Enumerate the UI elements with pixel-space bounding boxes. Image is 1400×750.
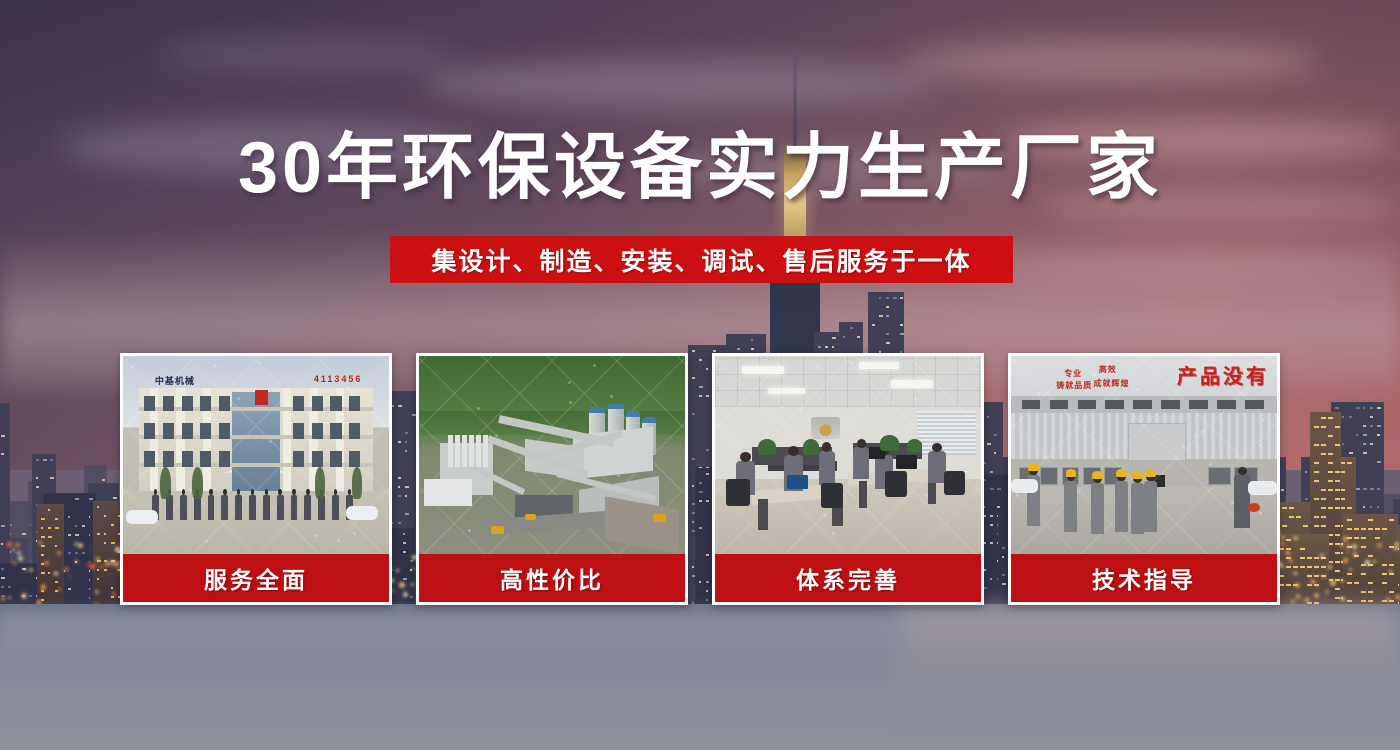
worker — [1091, 483, 1104, 534]
building-window — [293, 451, 304, 467]
card-caption: 技术指导 — [1011, 554, 1277, 602]
shoreline-light — [1353, 552, 1357, 556]
potted-plant — [758, 439, 777, 455]
factory-sign-text: 产品没有 — [1177, 360, 1269, 389]
exhaust-stack — [455, 435, 460, 467]
page-title: 30年环保设备实力生产厂家 — [0, 132, 1400, 204]
feature-card[interactable]: 高性价比 — [416, 353, 688, 605]
silo-top — [589, 407, 605, 413]
shoreline-light — [75, 560, 78, 563]
building-window — [293, 396, 304, 412]
tree — [352, 467, 363, 499]
staff-member — [263, 495, 270, 521]
factory-slogan-4: 成就辉煌 — [1093, 378, 1129, 389]
shoreline-light — [1309, 576, 1311, 578]
parked-car — [126, 510, 158, 524]
company-sign-text: 中基机械 — [155, 374, 195, 387]
shoreline-light — [1330, 580, 1336, 586]
ceiling-light — [891, 380, 934, 388]
potted-plant — [803, 439, 819, 455]
staff-member — [277, 495, 284, 521]
building-window — [330, 451, 341, 467]
building-window — [182, 396, 193, 412]
factory-window — [1040, 467, 1058, 485]
mesh-node — [1209, 463, 1212, 466]
shoreline-light — [1289, 559, 1292, 562]
monitor — [896, 455, 917, 469]
silo-top — [642, 417, 655, 423]
hard-hat — [1092, 471, 1103, 478]
building-window — [349, 396, 360, 412]
red-helmet — [1248, 503, 1260, 513]
excavator — [653, 514, 666, 522]
staff-member — [221, 495, 228, 521]
shoreline-light — [1377, 543, 1381, 547]
hard-hat — [1066, 469, 1077, 476]
cloud — [160, 40, 460, 70]
building-window — [200, 451, 211, 467]
subtitle-banner: 集设计、制造、安装、调试、售后服务于一体 — [390, 236, 1013, 283]
building-window — [219, 451, 230, 467]
aerial-plant-photo — [419, 356, 685, 554]
excavator — [491, 526, 504, 534]
shoreline-light — [1311, 580, 1314, 583]
building-window — [163, 423, 174, 439]
building-window — [200, 423, 211, 439]
tree — [315, 467, 326, 499]
office-chair — [821, 483, 842, 509]
shoreline-light — [1346, 544, 1350, 548]
parked-car — [1011, 479, 1038, 493]
building-window — [330, 423, 341, 439]
phone-sign-text: 4113456 — [314, 374, 363, 384]
shoreline-light — [1340, 597, 1344, 601]
staff-member — [249, 495, 256, 521]
subtitle-text: 集设计、制造、安装、调试、售后服务于一体 — [431, 242, 971, 278]
parked-car — [346, 506, 378, 520]
exhaust-stack — [483, 435, 488, 467]
desk-leg — [859, 481, 867, 509]
potted-plant — [907, 439, 923, 453]
building-column — [283, 388, 292, 491]
staff-member — [291, 495, 298, 521]
shoreline-light — [1349, 568, 1352, 571]
building-window — [349, 451, 360, 467]
factory-window — [1050, 400, 1069, 410]
office-interior-photo — [715, 356, 981, 554]
factory-window — [1161, 400, 1180, 410]
shoreline-light — [24, 569, 27, 572]
building-window — [182, 423, 193, 439]
feature-card[interactable]: 中基机械 4113456 服务全面 — [120, 353, 392, 605]
tower-spire-tip — [794, 50, 796, 70]
silo-top — [608, 404, 624, 410]
promo-banner: 30年环保设备实力生产厂家 集设计、制造、安装、调试、售后服务于一体 中基机械 … — [0, 0, 1400, 750]
worker — [1131, 483, 1144, 534]
wall-decoration — [811, 417, 840, 439]
silo-top — [626, 411, 639, 417]
factory-window — [1105, 400, 1124, 410]
card-caption: 体系完善 — [715, 554, 981, 602]
building-window — [312, 396, 323, 412]
building-window — [349, 423, 360, 439]
shoreline-light — [39, 541, 42, 544]
tree — [160, 467, 171, 499]
shoreline-light — [1314, 593, 1319, 598]
shoreline-light — [7, 542, 12, 547]
desk-leg — [758, 499, 769, 531]
exhaust-stack — [476, 435, 481, 467]
shoreline-light — [41, 587, 45, 591]
hard-hat — [1116, 469, 1127, 476]
instructor-head — [1238, 467, 1248, 476]
shoreline-light — [1395, 542, 1399, 546]
potted-plant — [880, 435, 899, 451]
shoreline-light — [1, 597, 4, 600]
building-window — [219, 396, 230, 412]
factory-window — [1133, 400, 1152, 410]
feature-card[interactable]: 产品没有 专业 高效 铸就品质 成就辉煌 技术指导 — [1008, 353, 1280, 605]
building-window — [144, 396, 155, 412]
cloud — [420, 60, 940, 108]
shoreline-light — [1386, 597, 1391, 602]
office-chair — [944, 471, 965, 495]
building-window — [312, 451, 323, 467]
building-window — [163, 451, 174, 467]
shoreline-light — [12, 549, 15, 552]
office-worker — [819, 451, 835, 485]
hard-hat — [1132, 471, 1143, 478]
building-window — [182, 451, 193, 467]
building-window — [312, 423, 323, 439]
parked-car — [1248, 481, 1277, 495]
staff-member — [208, 495, 215, 521]
shoreline-light — [1296, 594, 1301, 599]
factory-window — [1208, 467, 1231, 485]
water-right-glow — [900, 604, 1400, 724]
staff-member — [235, 495, 242, 521]
ceiling-light — [859, 362, 899, 369]
shoreline-light — [21, 593, 27, 599]
plant-building — [424, 479, 472, 507]
mesh-node — [468, 529, 471, 532]
building-window — [219, 423, 230, 439]
shoreline-light — [1293, 536, 1298, 541]
office-chair — [885, 471, 906, 497]
office-worker — [853, 447, 869, 479]
window-blinds — [917, 411, 976, 455]
staff-member — [180, 495, 187, 521]
ceiling-light — [742, 366, 785, 374]
worker — [1115, 481, 1128, 532]
shoreline-light — [96, 561, 98, 563]
company-headquarters-photo: 中基机械 4113456 — [123, 356, 389, 554]
hard-hat — [1145, 469, 1156, 476]
factory-window — [1078, 400, 1097, 410]
tree — [192, 467, 203, 499]
laptop — [787, 475, 808, 489]
shoreline-light — [54, 572, 57, 575]
factory-window — [1217, 400, 1236, 410]
building-window — [293, 423, 304, 439]
shoreline-light — [44, 561, 48, 565]
exhaust-stack — [448, 435, 453, 467]
shoreline-light — [1320, 554, 1324, 558]
card-caption: 服务全面 — [123, 554, 389, 602]
building-window — [144, 423, 155, 439]
worker — [1144, 481, 1157, 532]
factory-window — [1022, 400, 1041, 410]
exhaust-stack — [462, 435, 467, 467]
building-window — [200, 396, 211, 412]
cloud — [900, 40, 1320, 84]
ceiling-light — [768, 388, 805, 394]
factory-slogan-2: 高效 — [1099, 364, 1117, 375]
building-window — [163, 396, 174, 412]
shoreline-light — [1316, 585, 1318, 587]
worker — [1064, 481, 1077, 532]
shoreline-light — [1394, 546, 1397, 549]
factory-window — [1189, 400, 1208, 410]
feature-card[interactable]: 体系完善 — [712, 353, 984, 605]
staff-member — [304, 495, 311, 521]
yard-road — [605, 496, 679, 553]
worker-training-photo: 产品没有 专业 高效 铸就品质 成就辉煌 — [1011, 356, 1277, 554]
factory-slogan-3: 铸就品质 — [1056, 380, 1092, 391]
building-window — [330, 396, 341, 412]
feature-card-list: 中基机械 4113456 服务全面 高性价比 — [120, 353, 1280, 605]
shoreline-light — [17, 551, 21, 555]
building-window — [144, 451, 155, 467]
shoreline-light — [1389, 570, 1392, 573]
shoreline-light — [18, 556, 22, 560]
hard-hat — [1028, 463, 1039, 470]
staff-member — [332, 495, 339, 521]
factory-slogan-1: 专业 — [1064, 368, 1082, 379]
office-chair — [726, 479, 750, 507]
exhaust-stack — [469, 435, 474, 467]
shoreline-light — [1373, 560, 1376, 563]
shoreline-light — [95, 590, 99, 594]
loader — [525, 514, 536, 520]
shoreline-light — [15, 543, 20, 548]
factory-window — [1245, 400, 1264, 410]
card-caption: 高性价比 — [419, 554, 685, 602]
